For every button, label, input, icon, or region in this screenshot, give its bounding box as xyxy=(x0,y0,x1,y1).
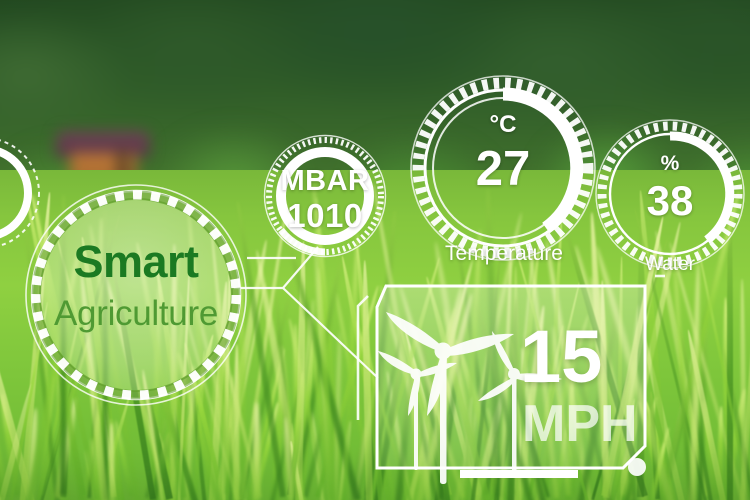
gauge-water xyxy=(596,120,744,268)
gauge-partial-left xyxy=(0,138,39,248)
brand-title-line1: Smart xyxy=(32,239,240,284)
smart-agriculture-hud-scene: MBAR 1010 °C 27 Temperature % 38 Water 1… xyxy=(0,0,750,500)
brand-title-line2: Agriculture xyxy=(26,296,246,331)
hud-overlay: MBAR 1010 °C 27 Temperature % 38 Water 1… xyxy=(0,0,750,500)
gauge-pressure xyxy=(265,136,386,257)
gauge-temperature xyxy=(411,76,595,260)
wind-panel-status-dot xyxy=(628,458,646,476)
gauge-water-arc xyxy=(670,136,730,240)
hud-connector-lines xyxy=(234,247,378,378)
